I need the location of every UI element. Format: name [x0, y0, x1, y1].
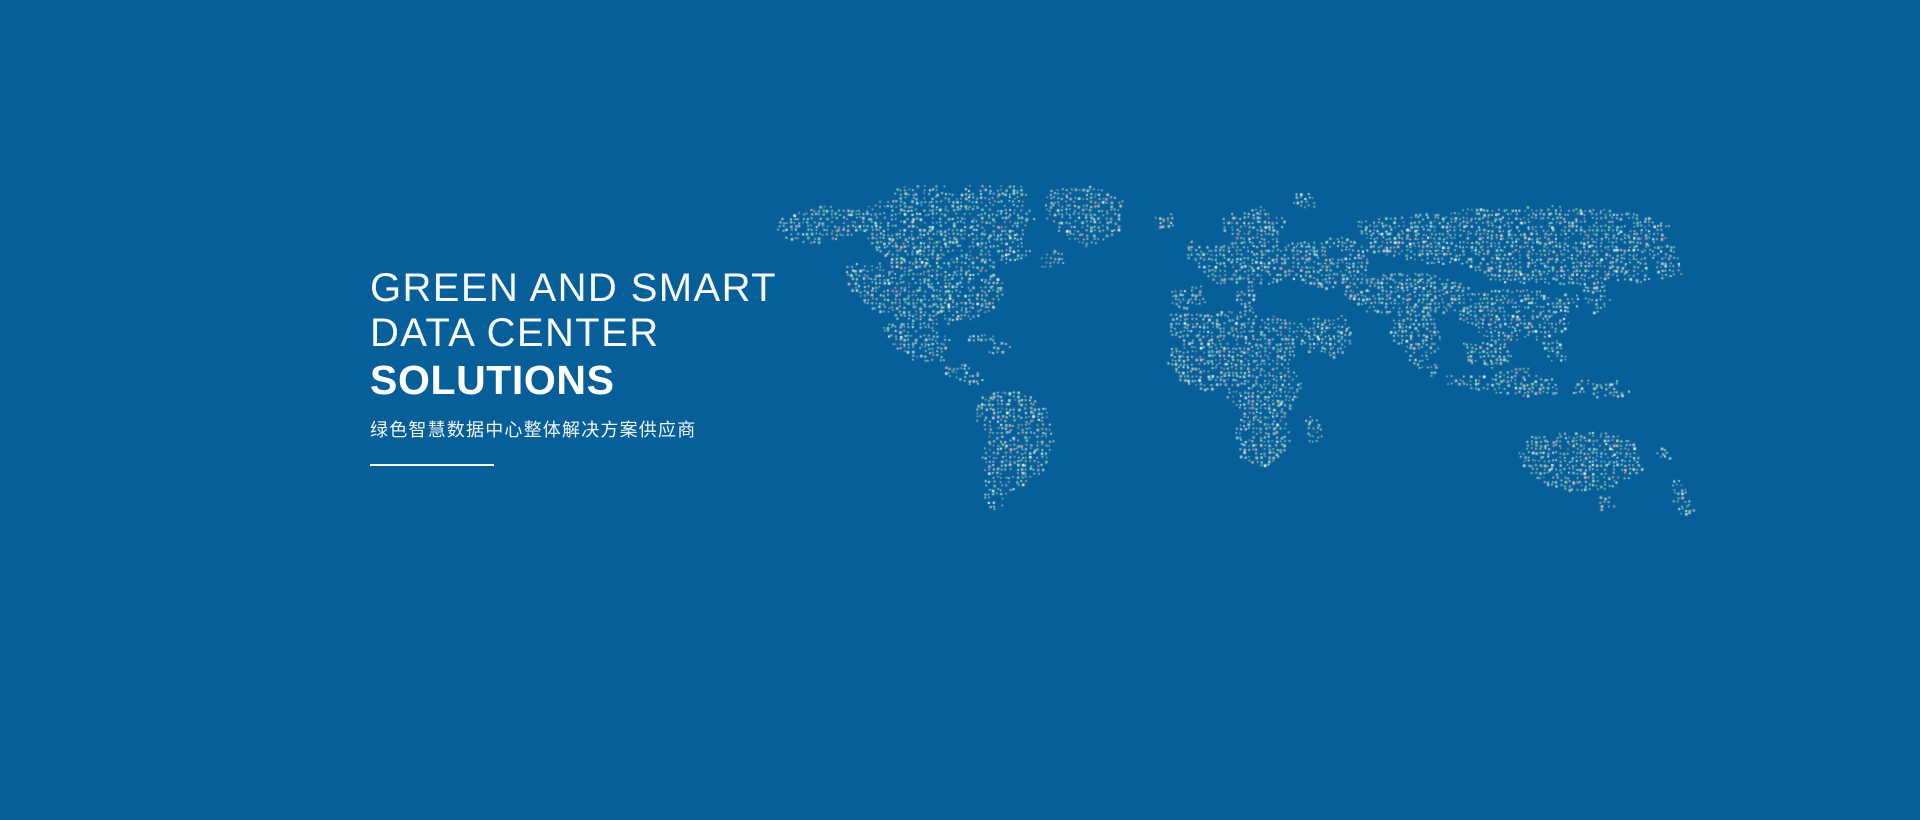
- hero-banner: GREEN AND SMART DATA CENTER SOLUTIONS 绿色…: [0, 0, 1920, 820]
- hero-text-block: GREEN AND SMART DATA CENTER SOLUTIONS 绿色…: [370, 266, 990, 466]
- headline-line-2: DATA CENTER: [370, 311, 990, 356]
- headline-line-1: GREEN AND SMART: [370, 266, 990, 311]
- headline-line-3: SOLUTIONS: [370, 358, 990, 403]
- hero-subtitle: 绿色智慧数据中心整体解决方案供应商: [370, 418, 990, 442]
- hero-divider: [370, 464, 494, 466]
